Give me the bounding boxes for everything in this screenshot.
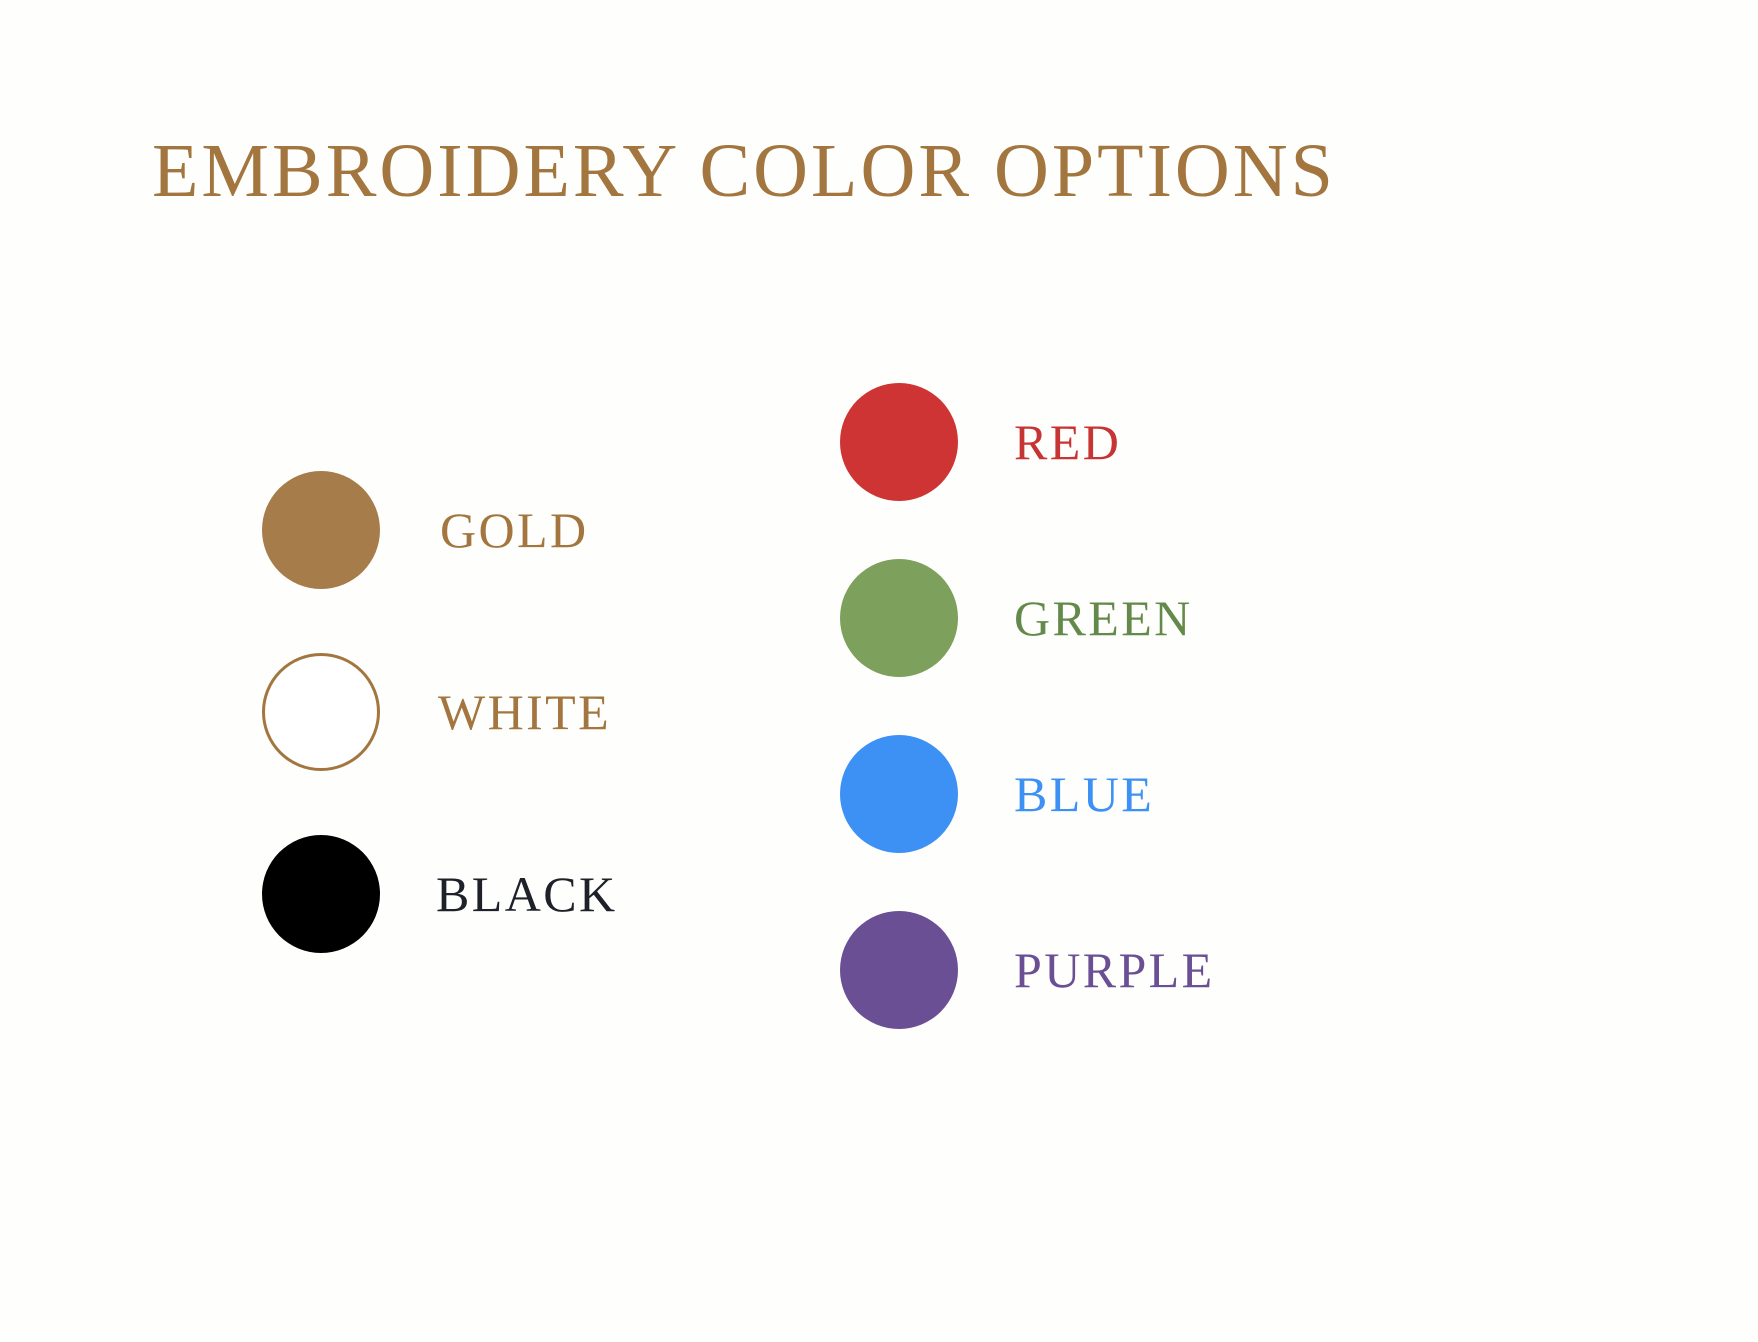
swatch-row-black[interactable]: BLACK [262,834,617,954]
swatch-label-purple: PURPLE [1014,945,1215,995]
swatch-dot-green[interactable] [840,559,958,677]
swatch-label-green: GREEN [1014,593,1193,643]
swatch-label-red: RED [1014,417,1121,467]
swatch-row-gold[interactable]: GOLD [262,470,617,590]
swatch-column-left: GOLD WHITE BLACK [262,470,617,954]
page-title: EMBROIDERY COLOR OPTIONS [152,132,1612,212]
swatch-label-black: BLACK [436,869,617,919]
swatch-row-red[interactable]: RED [840,382,1215,502]
swatch-dot-blue[interactable] [840,735,958,853]
swatch-row-white[interactable]: WHITE [262,652,617,772]
color-options-board: EMBROIDERY COLOR OPTIONS GOLD WHITE BLAC… [0,0,1758,1342]
swatch-dot-gold[interactable] [262,471,380,589]
swatch-label-white: WHITE [438,687,611,737]
swatch-row-green[interactable]: GREEN [840,558,1215,678]
swatch-column-right: RED GREEN BLUE PURPLE [840,382,1215,1030]
swatch-dot-black[interactable] [262,835,380,953]
swatch-dot-purple[interactable] [840,911,958,1029]
swatch-row-blue[interactable]: BLUE [840,734,1215,854]
swatch-label-gold: GOLD [440,505,588,555]
swatch-label-blue: BLUE [1014,769,1154,819]
swatch-dot-red[interactable] [840,383,958,501]
swatch-row-purple[interactable]: PURPLE [840,910,1215,1030]
swatch-dot-white[interactable] [262,653,380,771]
